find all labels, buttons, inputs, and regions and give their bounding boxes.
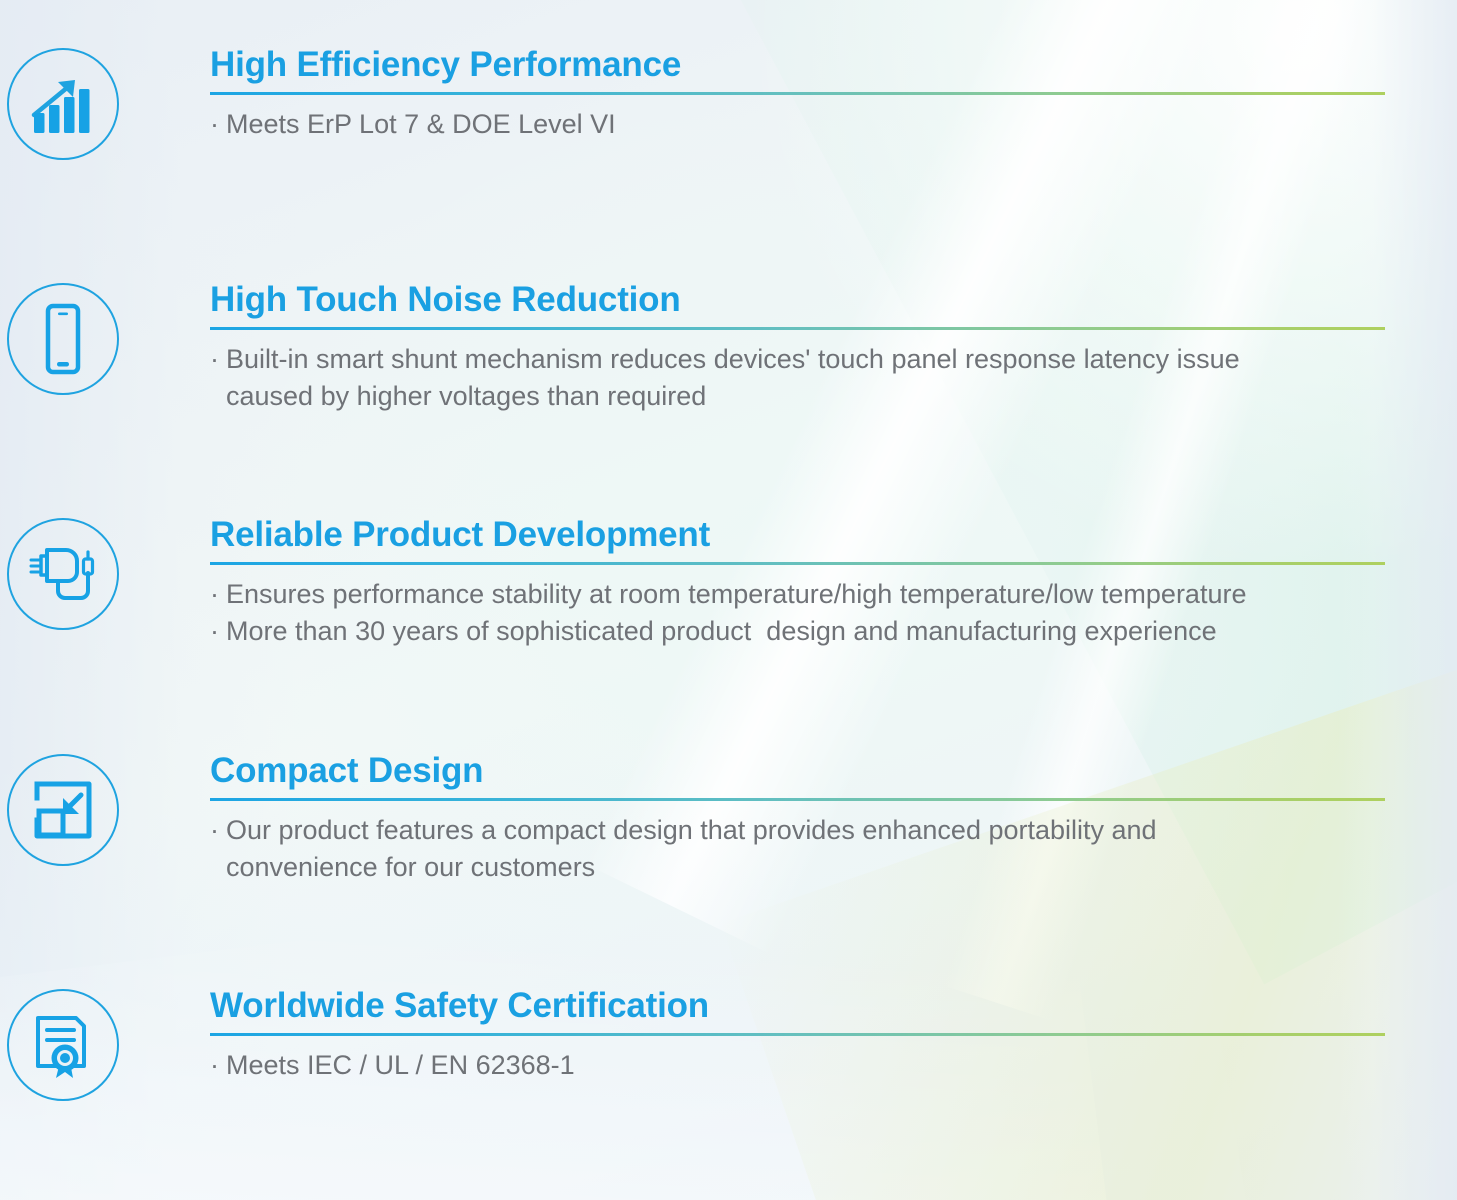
feature-item-high-touch-noise-reduction: High Touch Noise Reduction · Built-in sm… [0,281,1457,415]
feature-divider [210,1033,1385,1036]
feature-bullet-line: · More than 30 years of sophisticated pr… [210,613,1385,650]
feature-divider [210,562,1385,565]
feature-title: High Touch Noise Reduction [210,281,1385,318]
feature-divider [210,327,1385,330]
feature-bullet-list: · Ensures performance stability at room … [210,574,1385,649]
feature-bullet-line: · Built-in smart shunt mechanism reduces… [210,341,1385,378]
feature-bullet-text: Built-in smart shunt mechanism reduces d… [226,341,1385,378]
feature-icon-wrapper [0,281,125,395]
certificate-award-icon [7,989,119,1101]
feature-bullet-text: convenience for our customers [226,849,1385,886]
feature-bullet-text: Meets IEC / UL / EN 62368-1 [226,1047,1385,1084]
smartphone-icon [7,283,119,395]
feature-bullet-line-continuation: · caused by higher voltages than require… [210,378,1385,415]
feature-bullet-text: caused by higher voltages than required [226,378,1385,415]
feature-bullet-text: More than 30 years of sophisticated prod… [226,613,1385,650]
feature-item-high-efficiency-performance: High Efficiency Performance · Meets ErP … [0,46,1457,160]
feature-icon-wrapper [0,516,125,630]
bullet-dot-icon: · [210,576,219,613]
feature-body: Worldwide Safety Certification · Meets I… [125,987,1457,1084]
feature-item-reliable-product-development: Reliable Product Development · Ensures p… [0,516,1457,650]
feature-bullet-line: · Meets ErP Lot 7 & DOE Level VI [210,106,1385,143]
bar-chart-growth-icon [7,48,119,160]
feature-bullet-text: Our product features a compact design th… [226,812,1385,849]
feature-bullet-line: · Ensures performance stability at room … [210,576,1385,613]
feature-title: High Efficiency Performance [210,46,1385,83]
feature-bullet-line: · Our product features a compact design … [210,812,1385,849]
feature-icon-wrapper [0,987,125,1101]
feature-body: High Efficiency Performance · Meets ErP … [125,46,1457,143]
feature-divider [210,798,1385,801]
feature-body: High Touch Noise Reduction · Built-in sm… [125,281,1457,415]
compact-resize-icon [7,754,119,866]
feature-bullet-list: · Built-in smart shunt mechanism reduces… [210,339,1385,414]
bullet-dot-icon: · [210,106,219,143]
feature-divider [210,92,1385,95]
feature-icon-wrapper [0,752,125,866]
feature-bullet-list: · Meets ErP Lot 7 & DOE Level VI [210,104,1385,143]
feature-icon-wrapper [0,46,125,160]
feature-title: Compact Design [210,752,1385,789]
feature-body: Reliable Product Development · Ensures p… [125,516,1457,650]
bullet-dot-icon: · [210,613,219,650]
feature-bullet-text: Meets ErP Lot 7 & DOE Level VI [226,106,1385,143]
feature-bullet-line-continuation: · convenience for our customers [210,849,1385,886]
feature-bullet-list: · Our product features a compact design … [210,810,1385,885]
feature-title: Reliable Product Development [210,516,1385,553]
bullet-dot-icon: · [210,1047,219,1084]
feature-bullet-list: · Meets IEC / UL / EN 62368-1 [210,1045,1385,1084]
feature-body: Compact Design · Our product features a … [125,752,1457,886]
bullet-dot-icon: · [210,341,219,378]
feature-bullet-text: Ensures performance stability at room te… [226,576,1385,613]
feature-bullet-line: · Meets IEC / UL / EN 62368-1 [210,1047,1385,1084]
feature-item-worldwide-safety-certification: Worldwide Safety Certification · Meets I… [0,987,1457,1101]
feature-item-compact-design: Compact Design · Our product features a … [0,752,1457,886]
bullet-dot-icon: · [210,812,219,849]
feature-title: Worldwide Safety Certification [210,987,1385,1024]
power-adapter-icon [7,518,119,630]
